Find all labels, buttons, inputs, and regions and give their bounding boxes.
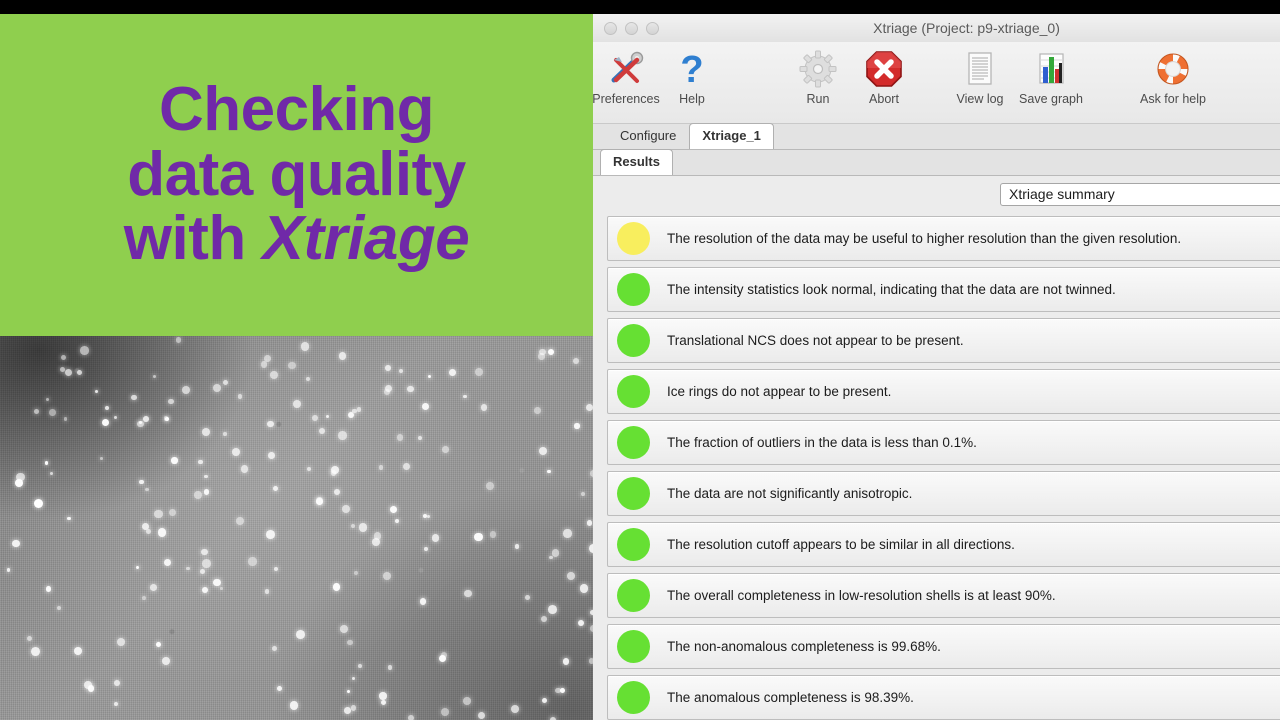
question-mark-icon: ?	[672, 46, 712, 92]
diffraction-spot	[150, 584, 157, 591]
diffraction-spot	[277, 686, 282, 691]
diffraction-spot	[102, 419, 109, 426]
diffraction-spot	[100, 457, 103, 460]
slide-title-emphasis: Xtriage	[263, 204, 470, 273]
diffraction-spot	[202, 559, 211, 568]
diffraction-spot	[563, 658, 569, 664]
diffraction-spot	[31, 647, 40, 656]
window-title: Xtriage (Project: p9-xtriage_0)	[593, 20, 1280, 36]
result-row[interactable]: The anomalous completeness is 98.39%.	[607, 675, 1280, 720]
diffraction-spot	[171, 457, 177, 463]
result-text: Translational NCS does not appear to be …	[667, 333, 964, 348]
summary-selector-value: Xtriage summary	[1009, 186, 1115, 202]
presentation-slide: Checking data quality with Xtriage	[0, 14, 593, 720]
diffraction-spot	[486, 482, 494, 490]
diffraction-spot	[359, 523, 367, 531]
diffraction-spot	[61, 355, 66, 360]
diffraction-spot	[338, 431, 347, 440]
result-text: The resolution of the data may be useful…	[667, 231, 1181, 246]
diffraction-spot	[64, 417, 67, 420]
primary-tabstrip: Configure Xtriage_1	[593, 124, 1280, 150]
main-toolbar: Preferences ? Help	[593, 42, 1280, 124]
diffraction-spot	[567, 572, 575, 580]
summary-selector[interactable]: Xtriage summary	[1000, 183, 1280, 206]
diffraction-spot	[296, 630, 305, 639]
diffraction-spot	[388, 665, 392, 669]
diffraction-spot	[347, 640, 352, 645]
diffraction-spot	[449, 369, 456, 376]
diffraction-spot	[12, 540, 19, 547]
result-text: Ice rings do not appear to be present.	[667, 384, 891, 399]
diffraction-spot	[351, 705, 356, 710]
toolbar-label-view-log: View log	[956, 92, 1003, 106]
result-row[interactable]: The data are not significantly anisotrop…	[607, 471, 1280, 516]
diffraction-spot	[552, 549, 559, 556]
diffraction-spot	[463, 395, 466, 398]
toolbar-label-abort: Abort	[869, 92, 899, 106]
status-dot-ok-icon	[617, 477, 650, 510]
diffraction-spot	[288, 362, 295, 369]
status-dot-ok-icon	[617, 273, 650, 306]
slide-title-line-1: Checking	[0, 78, 593, 142]
diffraction-spot	[333, 583, 340, 590]
diffraction-spot	[379, 465, 383, 469]
diffraction-spot	[273, 486, 278, 491]
result-row[interactable]: The non-anomalous completeness is 99.68%…	[607, 624, 1280, 669]
slide-title-line-3-prefix: with	[124, 204, 263, 273]
diffraction-spot	[45, 461, 48, 464]
diffraction-spot	[204, 489, 210, 495]
diffraction-spot	[80, 346, 89, 355]
secondary-tabstrip: Results	[593, 150, 1280, 176]
diffraction-spot	[403, 463, 410, 470]
result-text: The resolution cutoff appears to be simi…	[667, 537, 1015, 552]
toolbar-button-preferences[interactable]: Preferences	[593, 46, 659, 106]
diffraction-spot	[385, 365, 391, 371]
diffraction-spot	[428, 375, 431, 378]
stop-x-icon	[864, 46, 904, 92]
diffraction-spot	[408, 715, 414, 720]
diffraction-spot	[232, 448, 240, 456]
diffraction-spot	[539, 349, 545, 355]
diffraction-spot	[578, 620, 584, 626]
diffraction-spot	[339, 352, 346, 359]
diffraction-spot	[162, 657, 170, 665]
diffraction-spot	[358, 664, 362, 668]
diffraction-spot	[442, 446, 449, 453]
slide-title: Checking data quality with Xtriage	[0, 78, 593, 271]
slide-title-area: Checking data quality with Xtriage	[0, 14, 593, 336]
toolbar-label-preferences: Preferences	[593, 92, 660, 106]
diffraction-spot	[379, 692, 386, 699]
toolbar-label-ask-for-help: Ask for help	[1140, 92, 1206, 106]
diffraction-spot	[15, 479, 23, 487]
toolbar-label-save-graph: Save graph	[1019, 92, 1083, 106]
diffraction-spot	[274, 567, 278, 571]
diffraction-spot	[49, 409, 56, 416]
tab-configure[interactable]: Configure	[607, 123, 689, 149]
diffraction-spot	[139, 480, 143, 484]
xtriage-app-window: Xtriage (Project: p9-xtriage_0) Preferen…	[593, 14, 1280, 720]
summary-selector-bar: Xtriage summary	[593, 176, 1280, 212]
diffraction-spot	[424, 547, 428, 551]
diffraction-image	[0, 336, 593, 720]
diffraction-spot	[340, 625, 348, 633]
diffraction-spot	[574, 423, 579, 428]
minimize-button[interactable]	[625, 22, 638, 35]
diffraction-spot	[397, 434, 403, 440]
result-text: The overall completeness in low-resoluti…	[667, 588, 1056, 603]
result-text: The non-anomalous completeness is 99.68%…	[667, 639, 941, 654]
result-row[interactable]: The resolution cutoff appears to be simi…	[607, 522, 1280, 567]
result-text: The intensity statistics look normal, in…	[667, 282, 1116, 297]
diffraction-spot	[441, 708, 449, 716]
diffraction-spot	[164, 559, 171, 566]
result-text: The data are not significantly anisotrop…	[667, 486, 912, 501]
document-text-icon	[960, 46, 1000, 92]
diffraction-spot	[34, 499, 43, 508]
diffraction-spot	[158, 528, 166, 536]
status-dot-ok-icon	[617, 528, 650, 561]
diffraction-spot	[352, 677, 355, 680]
result-text: The fraction of outliers in the data is …	[667, 435, 977, 450]
diffraction-spot	[587, 520, 593, 526]
result-row[interactable]: The overall completeness in low-resoluti…	[607, 573, 1280, 618]
result-row[interactable]: The resolution of the data may be useful…	[607, 216, 1280, 261]
tab-results[interactable]: Results	[600, 149, 673, 175]
diffraction-spot	[77, 370, 82, 375]
diffraction-spot	[194, 491, 202, 499]
status-dot-warning-icon	[617, 222, 650, 255]
diffraction-spot	[464, 590, 471, 597]
diffraction-spot	[534, 407, 541, 414]
diffraction-spot	[261, 361, 267, 367]
diffraction-grain	[0, 336, 593, 720]
diffraction-spot	[236, 517, 244, 525]
diffraction-spot	[114, 680, 120, 686]
diffraction-spot	[169, 509, 176, 516]
window-traffic-lights	[593, 22, 659, 35]
toolbar-button-abort[interactable]: Abort	[851, 46, 917, 106]
diffraction-spot	[344, 707, 351, 714]
diffraction-spot	[290, 701, 298, 709]
diffraction-spot	[548, 605, 557, 614]
diffraction-spot	[238, 394, 242, 398]
zoom-button[interactable]	[646, 22, 659, 35]
diffraction-spot	[248, 557, 257, 566]
toolbar-button-ask-for-help[interactable]: Ask for help	[1135, 46, 1211, 106]
bar-chart-icon	[1031, 46, 1071, 92]
svg-text:?: ?	[680, 49, 703, 89]
window-titlebar: Xtriage (Project: p9-xtriage_0)	[593, 14, 1280, 42]
diffraction-spot	[50, 472, 53, 475]
life-ring-icon	[1153, 46, 1193, 92]
diffraction-spot	[474, 533, 482, 541]
diffraction-spot	[213, 579, 220, 586]
diffraction-spot	[145, 488, 149, 492]
diffraction-spot	[34, 409, 39, 414]
status-dot-ok-icon	[617, 630, 650, 663]
toolbar-button-run[interactable]: Run	[785, 46, 851, 106]
diffraction-spot	[95, 390, 98, 393]
slide-title-line-3: with Xtriage	[0, 207, 593, 271]
diffraction-spot	[272, 646, 277, 651]
diffraction-spot	[198, 460, 202, 464]
diffraction-spot	[541, 616, 547, 622]
diffraction-spot	[586, 404, 593, 411]
toolbar-label-run: Run	[807, 92, 830, 106]
gear-icon	[798, 46, 838, 92]
tab-xtriage-1[interactable]: Xtriage_1	[689, 123, 774, 149]
diffraction-spot	[223, 432, 226, 435]
status-dot-ok-icon	[617, 375, 650, 408]
diffraction-spot	[213, 384, 221, 392]
diffraction-spot	[27, 636, 32, 641]
status-dot-ok-icon	[617, 579, 650, 612]
result-row[interactable]: The intensity statistics look normal, in…	[607, 267, 1280, 312]
diffraction-spot	[156, 642, 161, 647]
diffraction-spot	[481, 404, 487, 410]
diffraction-spot	[182, 386, 191, 395]
diffraction-spot	[143, 416, 149, 422]
diffraction-spot	[407, 386, 414, 393]
diffraction-spot	[201, 549, 207, 555]
toolbar-label-help: Help	[679, 92, 705, 106]
diffraction-spot	[202, 587, 208, 593]
toolbar-button-help[interactable]: ? Help	[659, 46, 725, 106]
close-button[interactable]	[604, 22, 617, 35]
result-row[interactable]: Translational NCS does not appear to be …	[607, 318, 1280, 363]
letterbox-bar	[0, 0, 1280, 14]
slide-title-line-2: data quality	[0, 143, 593, 207]
diffraction-spot	[88, 685, 94, 691]
result-row[interactable]: The fraction of outliers in the data is …	[607, 420, 1280, 465]
results-list: The resolution of the data may be useful…	[593, 212, 1280, 720]
screenshot-root: Checking data quality with Xtriage Xtria…	[0, 0, 1280, 720]
status-dot-ok-icon	[617, 324, 650, 357]
diffraction-spot	[168, 399, 173, 404]
diffraction-spot	[268, 452, 275, 459]
diffraction-spot	[563, 529, 571, 537]
result-text: The anomalous completeness is 98.39%.	[667, 690, 914, 705]
diffraction-spot	[46, 398, 49, 401]
status-dot-ok-icon	[617, 426, 650, 459]
diffraction-spot	[176, 337, 182, 343]
diffraction-spot	[316, 498, 323, 505]
diffraction-spot	[555, 688, 560, 693]
tools-icon	[606, 46, 646, 92]
toolbar-button-save-graph[interactable]: Save graph	[1013, 46, 1089, 106]
status-dot-ok-icon	[617, 681, 650, 714]
diffraction-spot	[74, 647, 82, 655]
diffraction-spot	[383, 572, 391, 580]
toolbar-button-view-log[interactable]: View log	[947, 46, 1013, 106]
diffraction-spot	[67, 517, 71, 521]
diffraction-spot	[418, 436, 422, 440]
result-row[interactable]: Ice rings do not appear to be present.	[607, 369, 1280, 414]
